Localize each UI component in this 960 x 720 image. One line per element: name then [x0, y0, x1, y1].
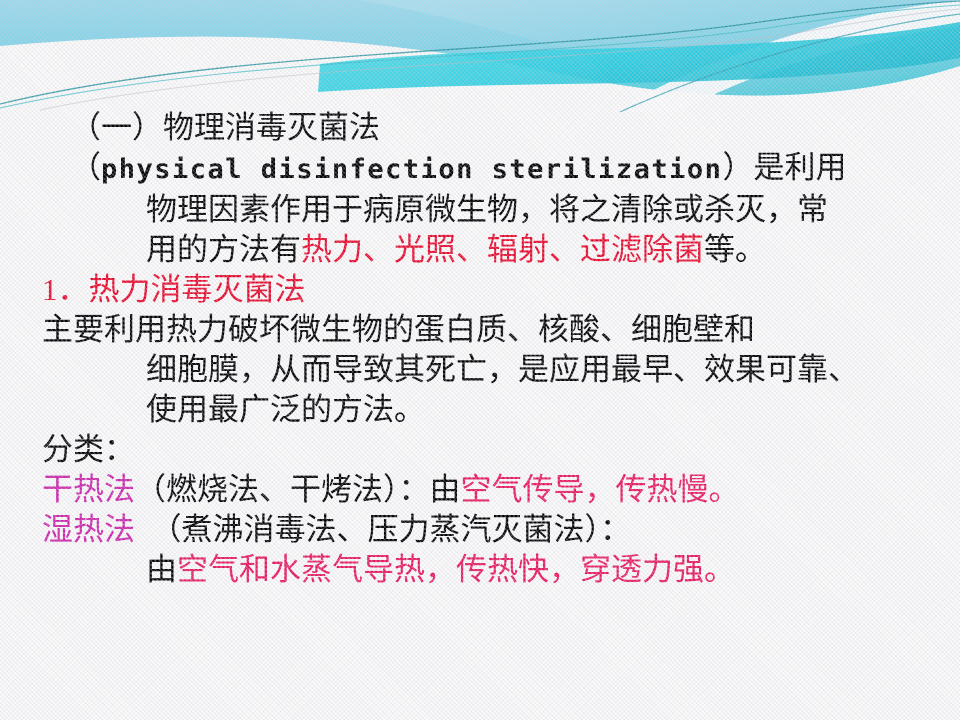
- text-line: 细胞膜，从而导致其死亡，是应用最早、效果可靠、: [0, 350, 960, 390]
- text-run: 1．热力消毒灭菌法: [42, 272, 306, 307]
- text-run: ）是利用: [722, 150, 846, 185]
- text-run: 分类：: [42, 432, 135, 467]
- text-line: （physical disinfection sterilization）是利用: [0, 148, 960, 190]
- text-run: 干热法: [42, 472, 135, 507]
- text-run: 等。: [704, 232, 766, 267]
- presentation-slide: （一）物理消毒灭菌法（physical disinfection sterili…: [0, 0, 960, 720]
- text-run: 主要利用热力破坏微生物的蛋白质、核酸、细胞壁和: [42, 312, 755, 347]
- text-run: physical disinfection sterilization: [101, 154, 722, 185]
- text-line: 干热法（燃烧法、干烤法）：由空气传导，传热慢。: [0, 470, 960, 510]
- text-line: 物理因素作用于病原微生物，将之清除或杀灭，常: [0, 190, 960, 230]
- text-line: 分类：: [0, 430, 960, 470]
- text-run: 由: [146, 552, 177, 587]
- text-line: 用的方法有热力、光照、辐射、过滤除菌等。: [0, 230, 960, 270]
- text-run: 使用最广泛的方法。: [146, 392, 425, 427]
- slide-body-text: （一）物理消毒灭菌法（physical disinfection sterili…: [0, 108, 960, 590]
- text-run: 细胞膜，从而导致其死亡，是应用最早、效果可靠、: [146, 352, 859, 387]
- banner-wave-graphic: [0, 0, 960, 112]
- text-run: 湿热法: [42, 512, 135, 547]
- text-run: 热力、光照、辐射、过滤除菌: [301, 232, 704, 267]
- text-run: （一）物理消毒灭菌法: [70, 110, 380, 145]
- slide-header-banner: [0, 0, 960, 112]
- text-run: （燃烧法、干烤法）：由: [135, 472, 461, 507]
- text-line: 使用最广泛的方法。: [0, 390, 960, 430]
- text-line: （一）物理消毒灭菌法: [0, 108, 960, 148]
- text-run: 物理因素作用于病原微生物，将之清除或杀灭，常: [146, 192, 828, 227]
- text-run: 空气和水蒸气导热，传热快，穿透力强。: [177, 552, 735, 587]
- text-line: 湿热法 （煮沸消毒法、压力蒸汽灭菌法）：: [0, 510, 960, 550]
- text-run: （: [70, 150, 101, 185]
- text-line: 主要利用热力破坏微生物的蛋白质、核酸、细胞壁和: [0, 310, 960, 350]
- text-line: 由空气和水蒸气导热，传热快，穿透力强。: [0, 550, 960, 590]
- text-run: （煮沸消毒法、压力蒸汽灭菌法）：: [135, 512, 631, 547]
- text-line: 1．热力消毒灭菌法: [0, 270, 960, 310]
- text-run: 空气传导，传热慢。: [461, 472, 740, 507]
- text-run: 用的方法有: [146, 232, 301, 267]
